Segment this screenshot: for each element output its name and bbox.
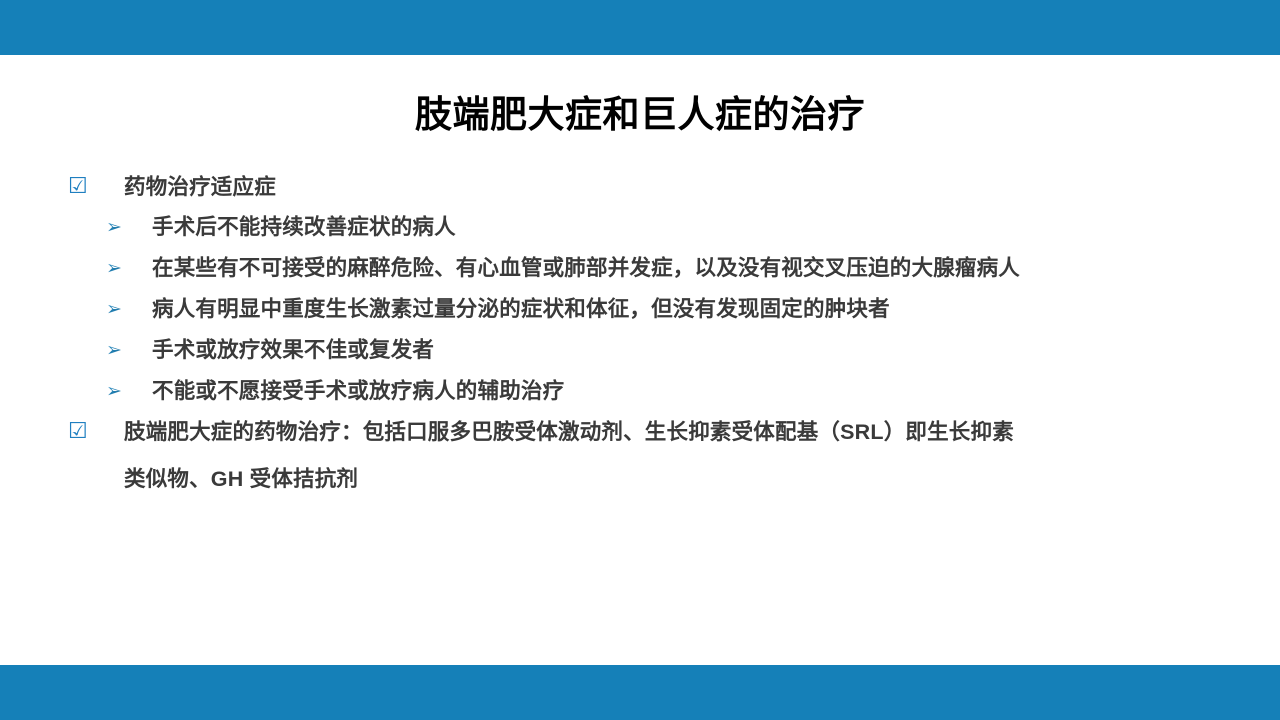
arrow-bullet-icon: ➢ xyxy=(106,294,152,324)
bullet-text: 手术或放疗效果不佳或复发者 xyxy=(152,335,1280,365)
slide: 肢端肥大症和巨人症的治疗 ☑ 药物治疗适应症 ➢ 手术后不能持续改善症状的病人 … xyxy=(0,0,1280,720)
bullet-item: ➢ 手术或放疗效果不佳或复发者 xyxy=(0,335,1280,365)
bullet-text: 药物治疗适应症 xyxy=(124,172,1280,202)
slide-title: 肢端肥大症和巨人症的治疗 xyxy=(0,92,1280,138)
bullet-item: ➢ 在某些有不可接受的麻醉危险、有心血管或肺部并发症，以及没有视交叉压迫的大腺瘤… xyxy=(0,253,1280,283)
bullet-item: ☑ 肢端肥大症的药物治疗：包括口服多巴胺受体激动剂、生长抑素受体配基（SRL）即… xyxy=(0,417,1280,494)
bullet-item: ➢ 病人有明显中重度生长激素过量分泌的症状和体征，但没有发现固定的肿块者 xyxy=(0,294,1280,324)
bullet-item: ☑ 药物治疗适应症 xyxy=(0,172,1280,202)
bottom-accent-bar xyxy=(0,665,1280,720)
bullet-text: 在某些有不可接受的麻醉危险、有心血管或肺部并发症，以及没有视交叉压迫的大腺瘤病人 xyxy=(152,253,1280,283)
arrow-bullet-icon: ➢ xyxy=(106,212,152,242)
top-accent-bar xyxy=(0,0,1280,55)
checkbox-icon: ☑ xyxy=(68,172,124,202)
bullet-text: 病人有明显中重度生长激素过量分泌的症状和体征，但没有发现固定的肿块者 xyxy=(152,294,1280,324)
bullet-text: 手术后不能持续改善症状的病人 xyxy=(152,212,1280,242)
bullet-text-line1: 肢端肥大症的药物治疗：包括口服多巴胺受体激动剂、生长抑素受体配基（SRL）即生长… xyxy=(124,420,1014,444)
bullet-text: 不能或不愿接受手术或放疗病人的辅助治疗 xyxy=(152,376,1280,406)
bullet-item: ➢ 不能或不愿接受手术或放疗病人的辅助治疗 xyxy=(0,376,1280,406)
bullet-text-line2: 类似物、GH 受体拮抗剂 xyxy=(124,464,1232,494)
bullet-text: 肢端肥大症的药物治疗：包括口服多巴胺受体激动剂、生长抑素受体配基（SRL）即生长… xyxy=(124,417,1280,494)
arrow-bullet-icon: ➢ xyxy=(106,253,152,283)
bullet-item: ➢ 手术后不能持续改善症状的病人 xyxy=(0,212,1280,242)
arrow-bullet-icon: ➢ xyxy=(106,376,152,406)
slide-body: ☑ 药物治疗适应症 ➢ 手术后不能持续改善症状的病人 ➢ 在某些有不可接受的麻醉… xyxy=(0,172,1280,504)
checkbox-icon: ☑ xyxy=(68,417,124,447)
arrow-bullet-icon: ➢ xyxy=(106,335,152,365)
